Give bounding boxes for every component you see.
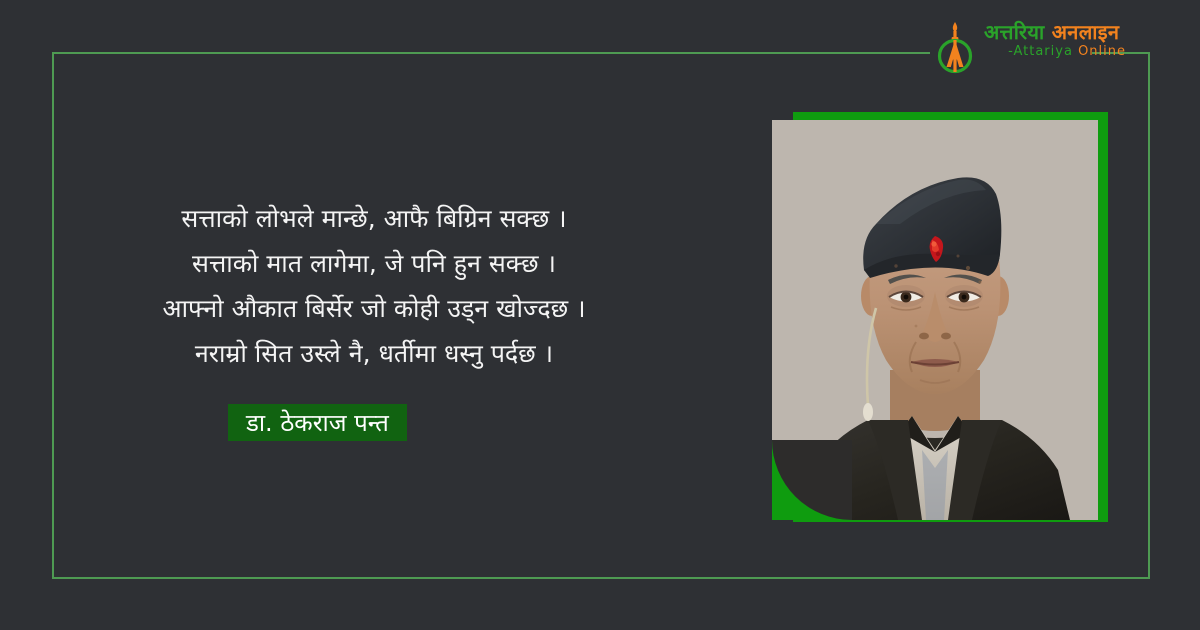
quote-line-1: सत्ताको लोभले मान्छे, आफै बिग्रिन सक्छ । bbox=[64, 196, 684, 241]
logo-name-orange: अनलाइन bbox=[1052, 20, 1120, 44]
logo-torch-a-icon bbox=[928, 20, 982, 74]
quote-text: सत्ताको लोभले मान्छे, आफै बिग्रिन सक्छ ।… bbox=[64, 196, 684, 376]
frame-border-top-left-segment bbox=[52, 52, 930, 54]
logo-tagline-orange: Online bbox=[1078, 44, 1126, 59]
logo-tagline-line: -Attariya Online bbox=[984, 44, 1130, 60]
logo-name-line: अत्तरिया अनलाइन bbox=[984, 20, 1130, 44]
quote-line-2: सत्ताको मात लागेमा, जे पनि हुन सक्छ । bbox=[64, 241, 684, 286]
site-logo[interactable]: अत्तरिया अनलाइन -Attariya Online bbox=[928, 14, 1128, 76]
logo-tagline-green: -Attariya bbox=[1008, 44, 1073, 59]
logo-wordmark: अत्तरिया अनलाइन -Attariya Online bbox=[984, 20, 1130, 60]
quote-line-3: आफ्नो औकात बिर्सेर जो कोही उड्न खोज्दछ । bbox=[64, 286, 684, 331]
quote-card: अत्तरिया अनलाइन -Attariya Online सत्ताको… bbox=[0, 0, 1200, 630]
author-name-badge: डा. ठेकराज पन्त bbox=[228, 404, 407, 441]
portrait-photo bbox=[772, 120, 1098, 520]
frame-border-bottom bbox=[52, 577, 1148, 579]
logo-name-green: अत्तरिया bbox=[984, 20, 1044, 44]
frame-border-right bbox=[1148, 52, 1150, 579]
frame-border-left bbox=[52, 52, 54, 579]
quote-line-4: नराम्रो सित उस्ले नै, धर्तीमा धस्नु पर्द… bbox=[64, 331, 684, 376]
portrait-corner-accent bbox=[772, 440, 852, 520]
